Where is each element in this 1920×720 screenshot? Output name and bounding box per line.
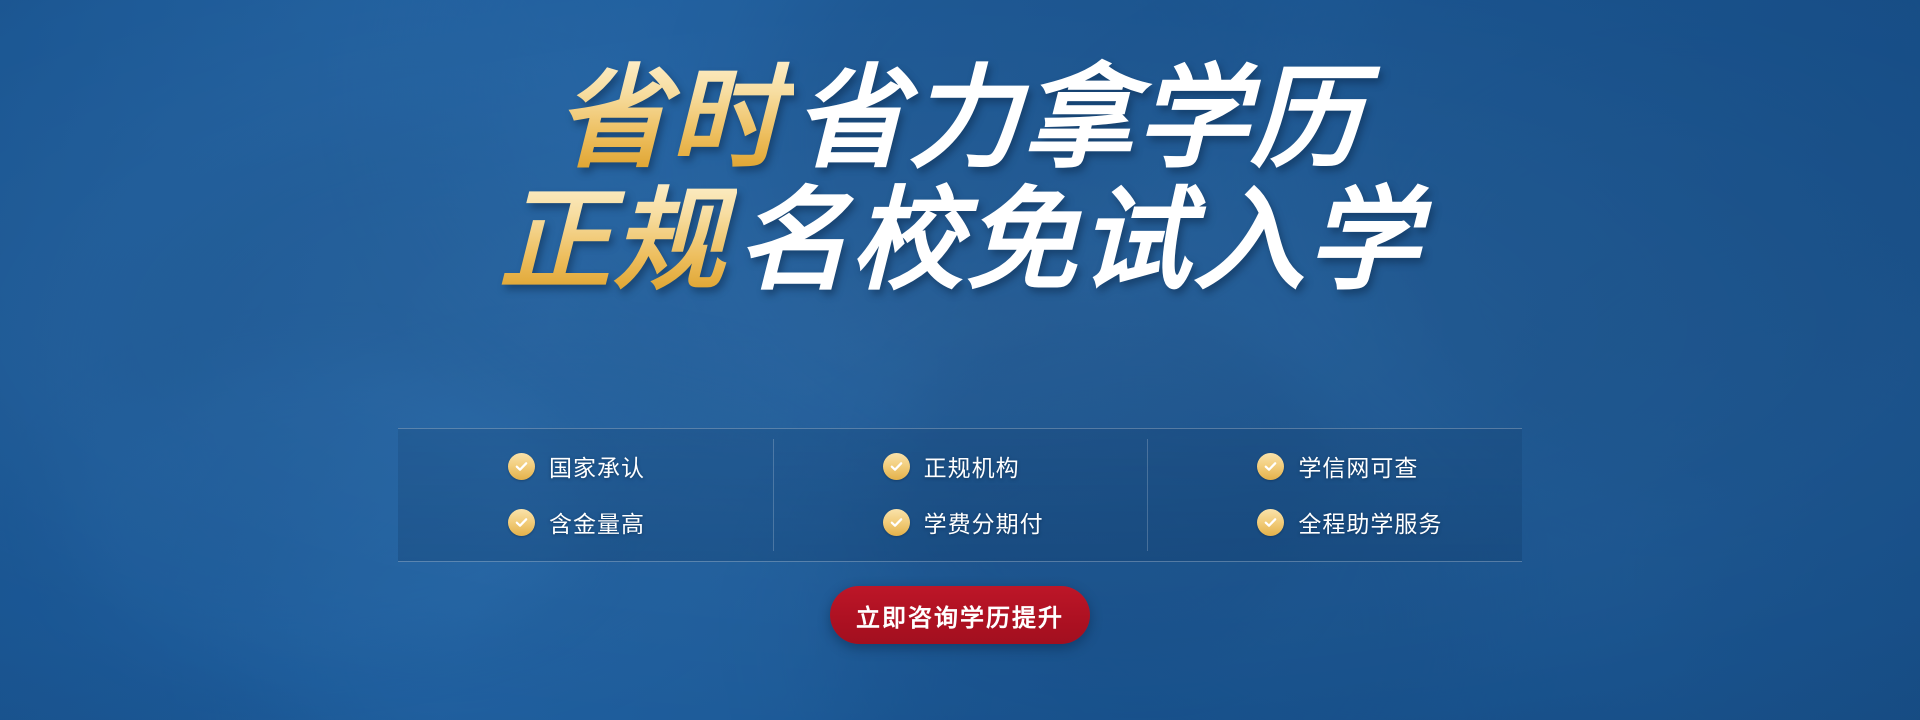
check-circle-icon xyxy=(1257,509,1284,536)
feature-item: 学信网可查 xyxy=(1147,443,1522,489)
check-circle-icon xyxy=(883,509,910,536)
headline-line-1: 省时省力拿学历 xyxy=(0,58,1920,180)
feature-label: 国家承认 xyxy=(549,449,645,483)
feature-item: 正规机构 xyxy=(773,443,1148,489)
consult-cta-button[interactable]: 立即咨询学历提升 xyxy=(830,586,1090,644)
promo-banner: 省时省力拿学历 正规名校免试入学 国家承认 正规机构 xyxy=(0,0,1920,720)
feature-panel: 国家承认 正规机构 学信网可查 含金量高 xyxy=(398,428,1522,562)
feature-label: 学费分期付 xyxy=(924,505,1044,539)
feature-item: 国家承认 xyxy=(398,443,773,489)
feature-label: 正规机构 xyxy=(924,449,1020,483)
feature-item: 全程助学服务 xyxy=(1147,499,1522,545)
column-divider-2 xyxy=(1147,439,1148,551)
feature-item: 学费分期付 xyxy=(773,499,1148,545)
check-circle-icon xyxy=(883,453,910,480)
check-circle-icon xyxy=(508,509,535,536)
headline-line-1-white: 省力拿学历 xyxy=(794,54,1364,184)
column-divider-1 xyxy=(773,439,774,551)
headline-line-2: 正规名校免试入学 xyxy=(0,180,1920,302)
feature-label: 全程助学服务 xyxy=(1298,505,1442,539)
feature-grid: 国家承认 正规机构 学信网可查 含金量高 xyxy=(398,443,1522,545)
headline-line-2-white: 名校免试入学 xyxy=(737,176,1421,306)
check-circle-icon xyxy=(508,453,535,480)
headline: 省时省力拿学历 正规名校免试入学 xyxy=(0,58,1920,302)
feature-label: 学信网可查 xyxy=(1298,449,1418,483)
headline-line-2-gold: 正规 xyxy=(499,176,737,306)
feature-item: 含金量高 xyxy=(398,499,773,545)
feature-label: 含金量高 xyxy=(549,505,645,539)
check-circle-icon xyxy=(1257,453,1284,480)
cta-container: 立即咨询学历提升 xyxy=(0,586,1920,644)
headline-line-1-gold: 省时 xyxy=(556,54,794,184)
